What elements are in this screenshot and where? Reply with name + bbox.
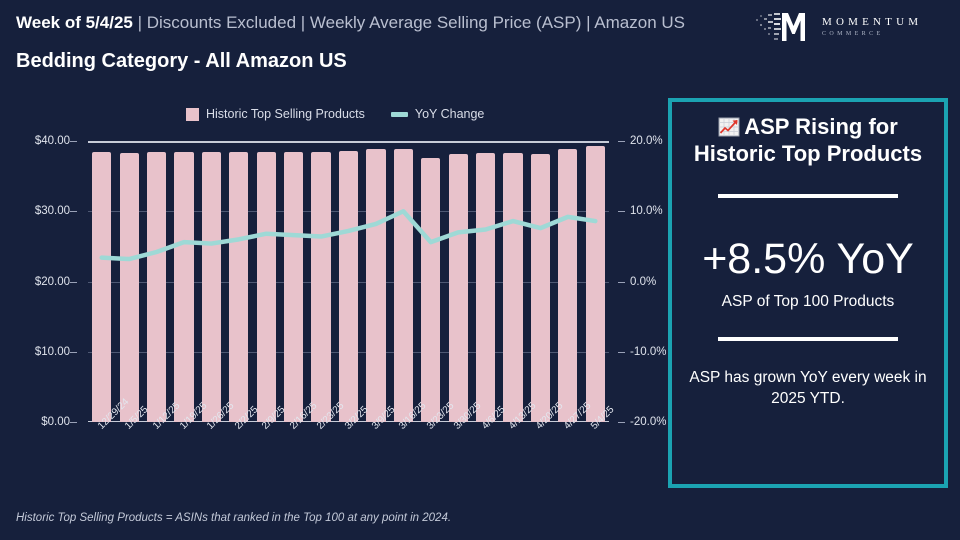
y-right-tick bbox=[618, 422, 625, 423]
logo-subtitle: COMMERCE bbox=[822, 31, 922, 37]
legend-line-swatch-icon bbox=[391, 112, 408, 117]
y-left-tick bbox=[70, 141, 77, 142]
legend-bar-swatch-icon bbox=[186, 108, 199, 121]
chart-increasing-icon bbox=[718, 117, 740, 137]
y-left-tick-label: $40.00 bbox=[35, 135, 70, 147]
asp-yoy-chart: $0.00$10.00$20.00$30.00$40.00 -20.0%-10.… bbox=[0, 130, 660, 430]
brand-logo: MOMENTUM COMMERCE bbox=[754, 6, 950, 48]
legend-bar-label: Historic Top Selling Products bbox=[206, 107, 365, 121]
chart-legend: Historic Top Selling Products YoY Change bbox=[186, 105, 484, 123]
y-left-tick bbox=[70, 282, 77, 283]
y-right-tick-label: 20.0% bbox=[630, 135, 663, 147]
callout-divider-bottom bbox=[718, 337, 898, 341]
y-left-tick bbox=[70, 422, 77, 423]
y-right-tick-label: -20.0% bbox=[630, 416, 666, 428]
y-left-tick bbox=[70, 211, 77, 212]
header-kicker: Week of 5/4/25 | Discounts Excluded | We… bbox=[16, 13, 685, 33]
callout-stat: +8.5% YoY bbox=[702, 238, 914, 281]
y-left-tick-label: $30.00 bbox=[35, 205, 70, 217]
header-kicker-rest: | Discounts Excluded | Weekly Average Se… bbox=[133, 13, 685, 32]
legend-item-bars[interactable]: Historic Top Selling Products bbox=[186, 107, 365, 121]
footnote: Historic Top Selling Products = ASINs th… bbox=[16, 512, 451, 524]
logo-name: MOMENTUM bbox=[822, 17, 922, 29]
y-left-tick-label: $0.00 bbox=[41, 416, 70, 428]
y-left-tick bbox=[70, 352, 77, 353]
callout-headline: ASP Rising for Historic Top Products bbox=[679, 114, 937, 168]
y-right-tick bbox=[618, 282, 625, 283]
callout-note: ASP has grown YoY every week in 2025 YTD… bbox=[688, 367, 928, 410]
insight-callout-panel: ASP Rising for Historic Top Products +8.… bbox=[668, 98, 948, 488]
y-right-tick bbox=[618, 352, 625, 353]
y-right-tick bbox=[618, 141, 625, 142]
page-header: Week of 5/4/25 | Discounts Excluded | We… bbox=[0, 0, 960, 88]
y-right-tick-label: -10.0% bbox=[630, 346, 666, 358]
legend-line-label: YoY Change bbox=[415, 107, 485, 121]
y-left-tick-label: $10.00 bbox=[35, 346, 70, 358]
y-left-tick-label: $20.00 bbox=[35, 276, 70, 288]
plot-area bbox=[88, 141, 609, 422]
legend-item-line[interactable]: YoY Change bbox=[391, 107, 485, 121]
momentum-m-icon bbox=[754, 7, 816, 47]
y-right-tick-label: 10.0% bbox=[630, 205, 663, 217]
callout-divider-top bbox=[718, 194, 898, 198]
header-week: Week of 5/4/25 bbox=[16, 13, 133, 32]
y-right-tick-label: 0.0% bbox=[630, 276, 656, 288]
callout-stat-subtitle: ASP of Top 100 Products bbox=[722, 293, 895, 311]
logo-wordmark: MOMENTUM COMMERCE bbox=[822, 17, 922, 38]
x-axis-labels: 12/29/241/5/251/12/251/19/251/26/252/2/2… bbox=[88, 424, 613, 484]
yoy-change-line bbox=[88, 141, 609, 422]
page-title: Bedding Category - All Amazon US bbox=[16, 50, 347, 73]
y-right-tick bbox=[618, 211, 625, 212]
y-axis-left: $0.00$10.00$20.00$30.00$40.00 bbox=[0, 130, 70, 430]
